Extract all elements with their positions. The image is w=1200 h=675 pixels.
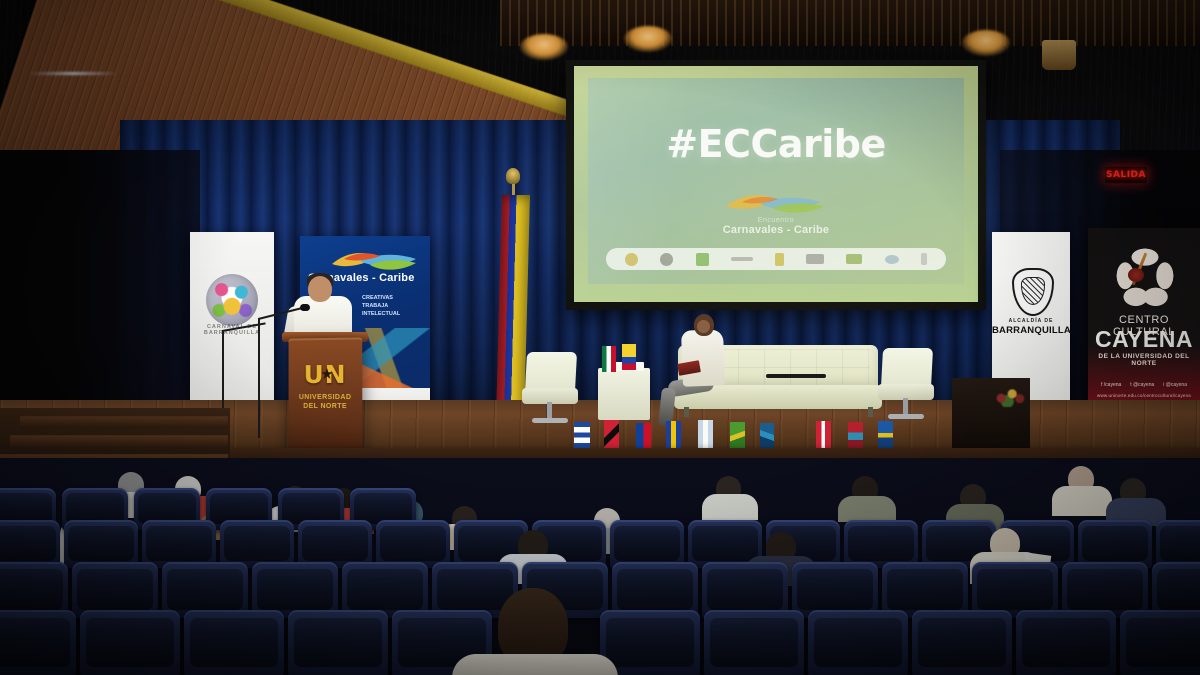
cayena-url: www.uninorte.edu.co/centrocultural/cayen… [1088, 393, 1200, 398]
stage-spotlight-glow-1 [520, 34, 568, 60]
carnavales-swoosh-banner-icon [328, 248, 420, 274]
hibiscus-center [1128, 268, 1144, 282]
audience-seat[interactable] [808, 610, 908, 675]
panelist-face [697, 320, 710, 333]
chair-backrest [881, 348, 933, 388]
audience-seat[interactable] [1016, 610, 1116, 675]
speaker-head [308, 276, 332, 302]
sofa-leg-left [684, 407, 689, 417]
flag-saint-lucia [848, 422, 863, 448]
centro-cultural-cayena-banner: CENTRO CULTURAL CAYENA DE LA UNIVERSIDAD… [1088, 228, 1200, 428]
cayena-line-3: DE LA UNIVERSIDAD DEL NORTE [1088, 353, 1200, 367]
spotlight-housing [1042, 40, 1076, 70]
foreground-audience-shoulders [452, 654, 618, 675]
audience-seat[interactable] [142, 520, 216, 568]
sponsor-logo-swirl [885, 255, 899, 264]
flag-dominica [730, 422, 745, 448]
alcaldia-line-1: ALCALDÍA DE [992, 318, 1070, 324]
microphone-head [300, 304, 310, 311]
slide-logo-sub: Encuentro [716, 217, 836, 224]
cayena-line-2: CAYENA [1088, 327, 1200, 351]
sponsor-logo-seal-2 [660, 253, 673, 266]
projected-slide: #ECCaribe Encuentro Carnavales - Caribe [588, 78, 964, 284]
sponsor-logo-e [775, 253, 784, 266]
slide-logo-text: Carnavales - Caribe [716, 224, 836, 236]
facebook-handle: f /cayena [1101, 382, 1121, 388]
instagram-handle: i @cayena [1163, 382, 1187, 388]
chair-base [888, 414, 924, 419]
exit-sign-label: SALIDA [1106, 170, 1146, 180]
audience-seat[interactable] [912, 610, 1012, 675]
sponsor-logo-arch [806, 254, 824, 264]
sponsor-logo-seal-1 [625, 253, 638, 266]
microphone-stand-1 [258, 318, 260, 438]
audience-seat[interactable] [704, 610, 804, 675]
flag-cuba [574, 422, 590, 448]
audience-seating-area [0, 458, 1200, 675]
audience-seat[interactable] [80, 610, 180, 675]
audience-seat[interactable] [184, 610, 284, 675]
flag-guatemala [698, 420, 713, 448]
flag-switzerland [816, 421, 831, 448]
audience-seat[interactable] [288, 610, 388, 675]
exit-sign: SALIDA [1104, 166, 1148, 184]
alcaldia-line-2: BARRANQUILLA [992, 325, 1070, 336]
podium-line-2: DEL NORTE [289, 403, 363, 410]
microphone-on-sofa [766, 374, 826, 378]
floral-arrangement [988, 385, 1032, 407]
slide-sponsor-bar [606, 248, 946, 270]
blue-banner-subtitle: CREATIVAS TRABAJA INTELECTUAL [362, 294, 428, 318]
audience-seat[interactable] [64, 520, 138, 568]
flag-dominican-republic [636, 423, 651, 449]
flag-antigua-barbuda [878, 421, 893, 448]
coat-of-arms-shield-icon [1012, 268, 1054, 316]
carnaval-circular-logo-icon [206, 274, 258, 326]
sponsor-logo-hand [846, 254, 862, 264]
flag-jamaica [760, 423, 774, 448]
speaker-podium: UN UNIVERSIDAD DEL NORTE [289, 337, 363, 450]
stage-step-1 [20, 416, 228, 428]
audience-seat[interactable] [1120, 610, 1200, 675]
podium-line-1: UNIVERSIDAD [289, 394, 363, 401]
table-flag-ecuador [622, 344, 636, 370]
sponsor-logo-text-1 [731, 257, 753, 261]
twitter-handle: t @cayena [1130, 382, 1154, 388]
audience-shoulders [1052, 486, 1112, 516]
flag-barbados [666, 421, 681, 448]
sponsor-logo-bottle [921, 253, 927, 265]
panelist-torso [681, 329, 725, 386]
table-flag-mexico [602, 346, 616, 372]
slide-hashtag-title: #ECCaribe [588, 122, 964, 166]
sofa-leg-right [868, 407, 873, 417]
audience-seat[interactable] [600, 610, 700, 675]
sponsor-logo-green-book [696, 253, 709, 266]
cayena-social-row: f /cayena t @cayena i @cayena [1094, 380, 1194, 390]
audience-seat[interactable] [376, 520, 450, 568]
chair-backrest [525, 352, 577, 392]
ceiling-light-1 [28, 72, 118, 75]
auditorium-photo: #ECCaribe Encuentro Carnavales - Caribe [0, 0, 1200, 675]
audience-seat[interactable] [1156, 520, 1200, 568]
carnavales-swoosh-icon [720, 190, 832, 216]
stage-step-2 [10, 435, 228, 447]
audience-seat[interactable] [298, 520, 372, 568]
audience-seat[interactable] [610, 520, 684, 568]
slide-event-logo: Encuentro Carnavales - Caribe [716, 190, 836, 236]
stage-spotlight-glow-2 [624, 26, 672, 52]
audience-seat[interactable] [0, 610, 76, 675]
audience-shoulders [702, 494, 758, 520]
flag-trinidad-tobago [604, 420, 619, 448]
audience-seat[interactable] [220, 520, 294, 568]
white-chair-right [878, 348, 934, 420]
audience-seat[interactable] [1078, 520, 1152, 568]
flag-finial [506, 168, 520, 184]
audience-seat[interactable] [0, 520, 60, 568]
audience-shoulders [838, 496, 896, 522]
audience-seat[interactable] [844, 520, 918, 568]
side-table [598, 368, 650, 420]
white-chair-left [522, 352, 578, 424]
stage-spotlight-glow-3 [962, 30, 1010, 56]
stage-front-flag-row [560, 418, 890, 452]
ceiling-soffit-strip [500, 0, 1200, 46]
